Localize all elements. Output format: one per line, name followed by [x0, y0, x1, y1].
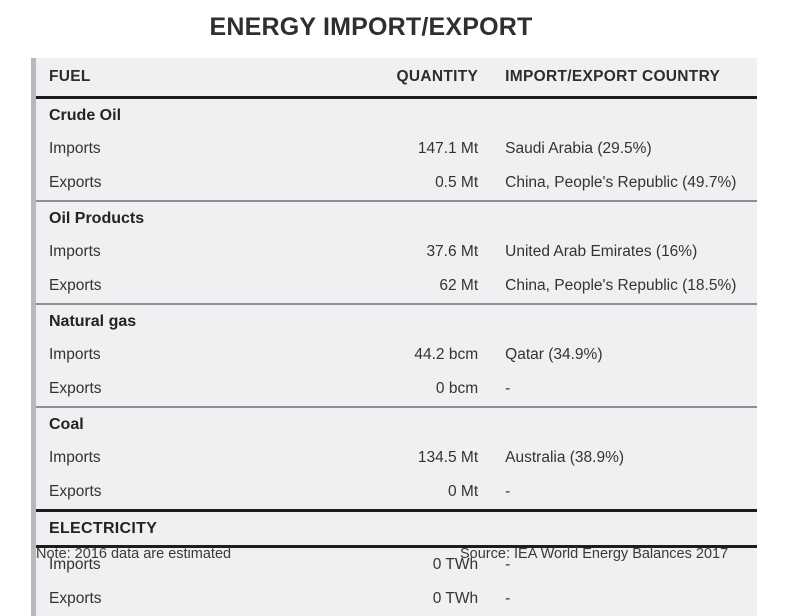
column-header-fuel: FUEL [36, 58, 358, 98]
section-header-electricity: ELECTRICITY [36, 511, 757, 547]
row-quantity: 62 Mt [358, 269, 491, 304]
row-quantity: 37.6 Mt [358, 235, 491, 269]
table-row: Imports 37.6 Mt United Arab Emirates (16… [36, 235, 757, 269]
section-title: Coal [36, 407, 757, 441]
row-quantity: 0 bcm [358, 372, 491, 407]
section-title: Crude Oil [36, 98, 757, 133]
column-header-quantity: QUANTITY [358, 58, 491, 98]
section-title: Oil Products [36, 201, 757, 235]
section-header-oil-products: Oil Products [36, 201, 757, 235]
row-label: Exports [36, 166, 358, 201]
table-row: Imports 44.2 bcm Qatar (34.9%) [36, 338, 757, 372]
footer-note: Note: 2016 data are estimated [36, 546, 231, 562]
table-body: Crude Oil Imports 147.1 Mt Saudi Arabia … [36, 98, 757, 616]
section-header-coal: Coal [36, 407, 757, 441]
row-country: Saudi Arabia (29.5%) [491, 132, 757, 166]
row-quantity: 0 TWh [358, 582, 491, 616]
row-country: China, People's Republic (49.7%) [491, 166, 757, 201]
row-quantity: 0 Mt [358, 475, 491, 511]
page-title: ENERGY IMPORT/EXPORT [0, 13, 742, 42]
table-row: Imports 134.5 Mt Australia (38.9%) [36, 441, 757, 475]
row-label: Imports [36, 235, 358, 269]
row-country: Qatar (34.9%) [491, 338, 757, 372]
table-row: Exports 0 Mt - [36, 475, 757, 511]
section-header-crude-oil: Crude Oil [36, 98, 757, 133]
row-label: Imports [36, 441, 358, 475]
row-label: Exports [36, 269, 358, 304]
row-country: - [491, 372, 757, 407]
table-row: Imports 147.1 Mt Saudi Arabia (29.5%) [36, 132, 757, 166]
row-label: Imports [36, 338, 358, 372]
row-quantity: 0.5 Mt [358, 166, 491, 201]
row-country: Australia (38.9%) [491, 441, 757, 475]
row-country: - [491, 475, 757, 511]
table-row: Exports 0 TWh - [36, 582, 757, 616]
energy-table-panel: FUEL QUANTITY IMPORT/EXPORT COUNTRY Crud… [31, 58, 757, 616]
row-label: Exports [36, 475, 358, 511]
row-country: - [491, 582, 757, 616]
table-header-row: FUEL QUANTITY IMPORT/EXPORT COUNTRY [36, 58, 757, 98]
section-title: ELECTRICITY [36, 511, 757, 547]
energy-table: FUEL QUANTITY IMPORT/EXPORT COUNTRY Crud… [36, 58, 757, 616]
footer-source: Source: IEA World Energy Balances 2017 [460, 546, 728, 562]
row-quantity: 147.1 Mt [358, 132, 491, 166]
table-row: Exports 0 bcm - [36, 372, 757, 407]
section-header-natural-gas: Natural gas [36, 304, 757, 338]
row-country: United Arab Emirates (16%) [491, 235, 757, 269]
row-quantity: 44.2 bcm [358, 338, 491, 372]
energy-import-export-figure: ENERGY IMPORT/EXPORT FUEL QUANTITY IMPOR… [0, 0, 800, 581]
section-title: Natural gas [36, 304, 757, 338]
row-label: Exports [36, 372, 358, 407]
row-label: Exports [36, 582, 358, 616]
row-label: Imports [36, 132, 358, 166]
column-header-country: IMPORT/EXPORT COUNTRY [491, 58, 757, 98]
row-country: China, People's Republic (18.5%) [491, 269, 757, 304]
table-row: Exports 0.5 Mt China, People's Republic … [36, 166, 757, 201]
table-row: Exports 62 Mt China, People's Republic (… [36, 269, 757, 304]
row-quantity: 134.5 Mt [358, 441, 491, 475]
footer: Note: 2016 data are estimated Source: IE… [36, 546, 776, 568]
